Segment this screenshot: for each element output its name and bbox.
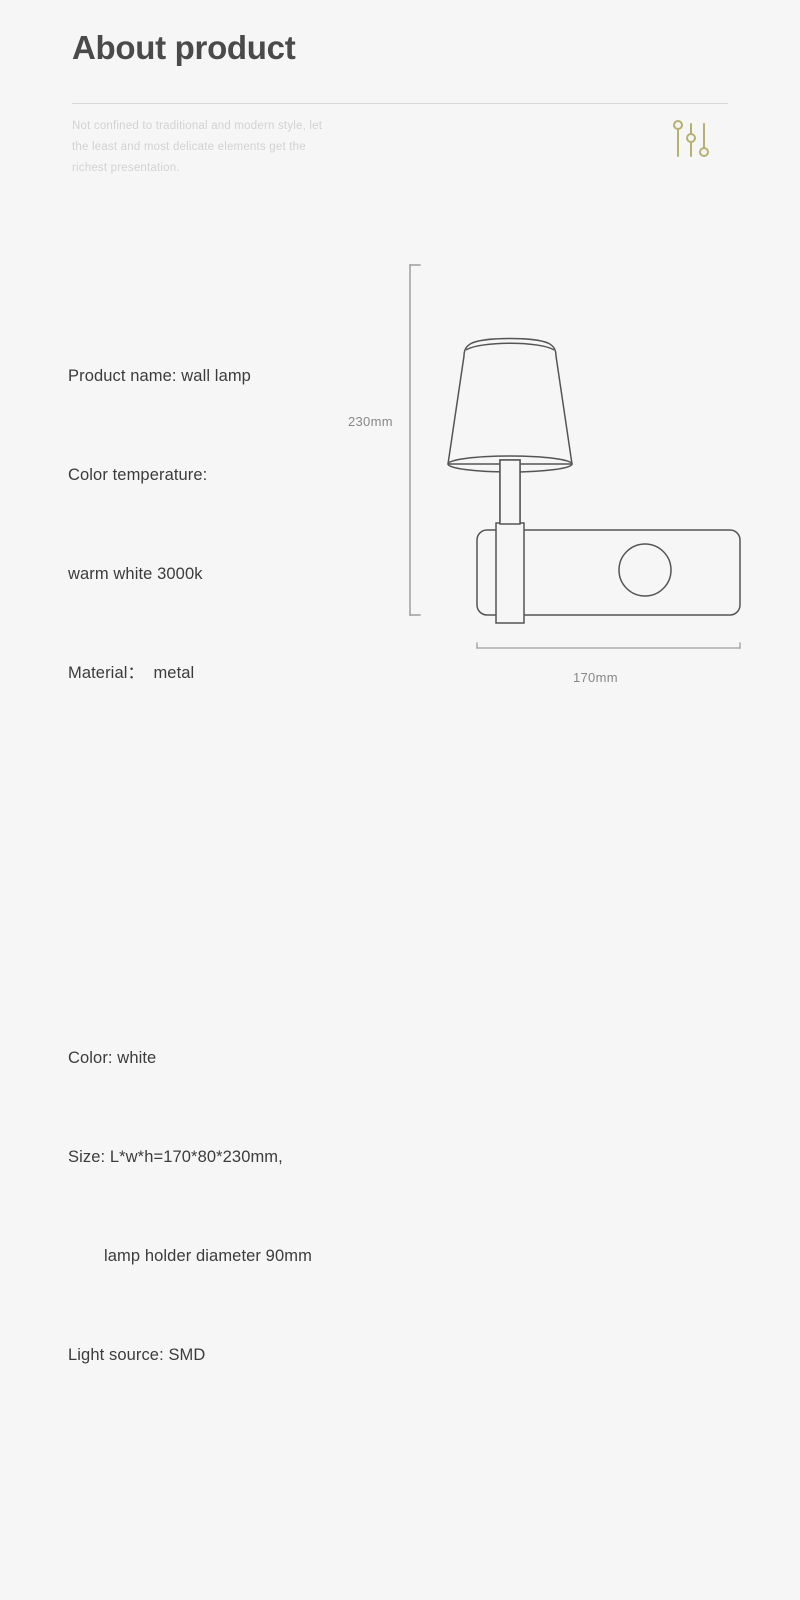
spec-light-source: Light source: SMD xyxy=(68,1339,368,1372)
spec-product-name: Product name: wall lamp xyxy=(68,360,368,393)
spec-group-dimensions: Color: white Size: L*w*h=170*80*230mm, l… xyxy=(68,976,368,1438)
lamp-shade xyxy=(448,339,572,473)
width-dimension-line xyxy=(477,643,740,648)
lamp-stem-overlay xyxy=(500,460,520,524)
spec-lamp-holder-diameter: lamp holder diameter 90mm xyxy=(68,1240,368,1273)
height-dimension-line xyxy=(410,265,420,615)
reading-light-circle xyxy=(619,544,671,596)
spec-color-temperature-label: Color temperature: xyxy=(68,459,368,492)
product-info-page: About product Not confined to traditiona… xyxy=(0,0,800,800)
header-divider xyxy=(72,103,728,104)
spec-color-temperature-value: warm white 3000k xyxy=(68,558,368,591)
width-dimension-label: 170mm xyxy=(573,670,618,685)
spec-spacer-2 xyxy=(68,1537,368,1559)
page-subtitle: Not confined to traditional and modern s… xyxy=(72,116,342,179)
spec-spacer-1 xyxy=(68,855,368,877)
wall-lamp-technical-drawing xyxy=(340,240,780,700)
spec-size: Size: L*w*h=170*80*230mm, xyxy=(68,1141,368,1174)
height-dimension-label: 230mm xyxy=(348,414,393,429)
spec-list: Product name: wall lamp Color temperatur… xyxy=(68,228,368,1600)
mounting-collar xyxy=(496,523,524,623)
spec-material: Material： metal xyxy=(68,657,368,690)
sliders-icon xyxy=(671,118,713,162)
spec-group-basic: Product name: wall lamp Color temperatur… xyxy=(68,294,368,756)
spec-color: Color: white xyxy=(68,1042,368,1075)
page-title: About product xyxy=(72,28,295,68)
